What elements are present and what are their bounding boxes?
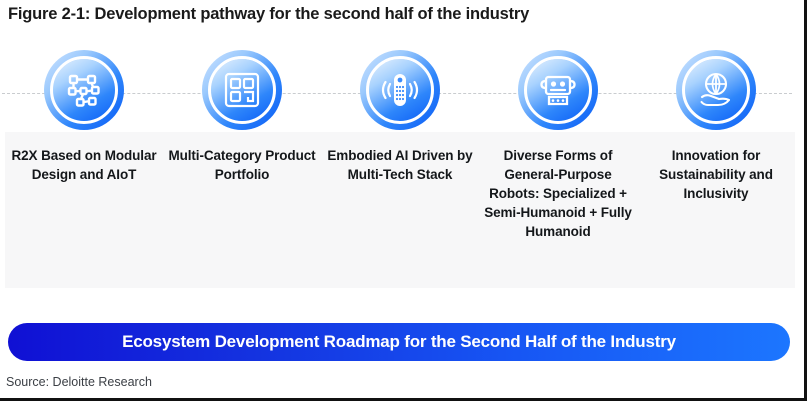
- pathway-step-1[interactable]: R2X Based on Modular Design and AIoT: [5, 50, 163, 184]
- pathway-step-4[interactable]: Diverse Forms of General-Purpose Robots:…: [479, 50, 637, 241]
- page-title: Figure 2-1: Development pathway for the …: [8, 5, 788, 24]
- step-1-icon-badge: [44, 50, 124, 130]
- pathway-step-2-label: Multi-Category Product Portfolio: [163, 146, 321, 184]
- globe-in-hand-icon: [685, 59, 747, 121]
- robot-head-icon: [527, 59, 589, 121]
- qr-grid-icon: [211, 59, 273, 121]
- figure-container: Figure 2-1: Development pathway for the …: [0, 0, 807, 401]
- roadmap-banner[interactable]: Ecosystem Development Roadmap for the Se…: [8, 323, 790, 361]
- pathway-step-3[interactable]: Embodied AI Driven by Multi-Tech Stack: [321, 50, 479, 184]
- network-nodes-icon: [53, 59, 115, 121]
- pathway-step-5[interactable]: Innovation for Sustainability and Inclus…: [637, 50, 795, 203]
- pathway-step-3-label: Embodied AI Driven by Multi-Tech Stack: [321, 146, 479, 184]
- pathway-step-1-label: R2X Based on Modular Design and AIoT: [5, 146, 163, 184]
- step-5-icon-badge: [676, 50, 756, 130]
- roadmap-banner-label: Ecosystem Development Roadmap for the Se…: [122, 332, 676, 352]
- pathway-step-2[interactable]: Multi-Category Product Portfolio: [163, 50, 321, 184]
- source-note: Source: Deloitte Research: [6, 375, 152, 389]
- pathway-step-5-label: Innovation for Sustainability and Inclus…: [637, 146, 795, 203]
- smart-speaker-waves-icon: [369, 59, 431, 121]
- pathway-step-4-label: Diverse Forms of General-Purpose Robots:…: [479, 146, 637, 241]
- pathway-steps-row: R2X Based on Modular Design and AIoT Mul…: [5, 50, 795, 241]
- step-4-icon-badge: [518, 50, 598, 130]
- step-2-icon-badge: [202, 50, 282, 130]
- step-3-icon-badge: [360, 50, 440, 130]
